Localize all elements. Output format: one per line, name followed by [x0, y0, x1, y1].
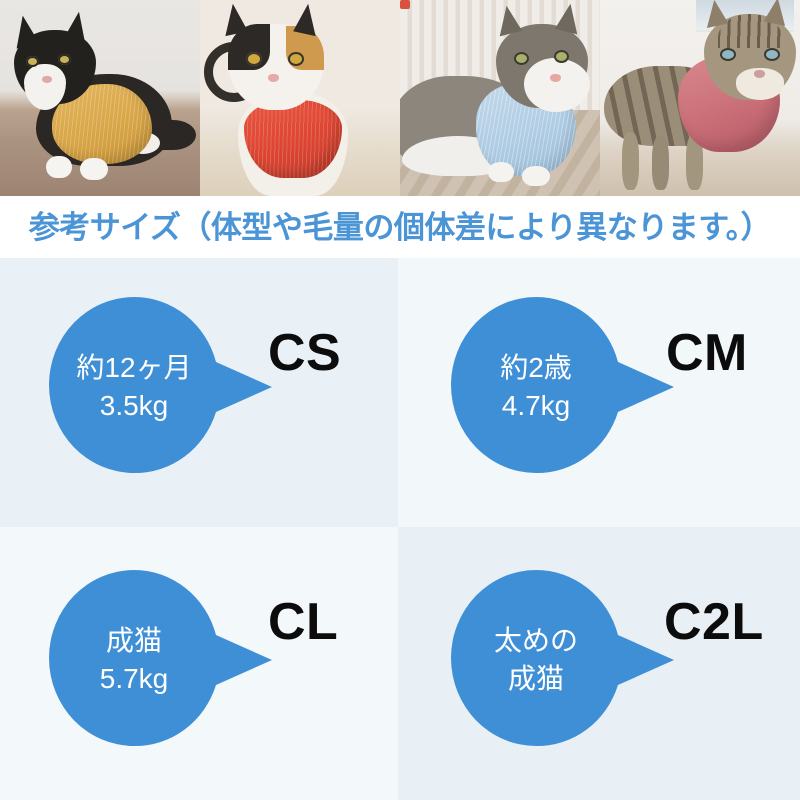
cat-eye-right	[764, 48, 780, 61]
cat-paw-left	[488, 162, 514, 182]
cat-photo-tabby-pink	[600, 0, 800, 196]
recovery-suit-red	[244, 100, 342, 178]
size-cell-c2l: 太めの 成猫 C2L	[398, 527, 800, 800]
size-reference-grid: 約12ヶ月 3.5kg CS 約2歳 4.7kg CM	[0, 258, 800, 800]
size-bubble-c2l: 太めの 成猫	[446, 565, 686, 755]
size-code-cl: CL	[268, 527, 338, 717]
cat-leg-rear	[622, 132, 639, 190]
size-code-cs: CS	[268, 258, 341, 448]
cat-ear-left	[702, 0, 729, 28]
size-bubble-cl: 成猫 5.7kg	[44, 565, 284, 755]
section-title-band: 参考サイズ（体型や毛量の個体差により異なります。）	[0, 196, 800, 258]
cat-paw-right	[80, 158, 108, 180]
size-code-cm: CM	[666, 258, 748, 448]
size-bubble-cm: 約2歳 4.7kg	[446, 292, 686, 482]
size-guide-page: 参考サイズ（体型や毛量の個体差により異なります。） 約12ヶ月 3.5kg CS	[0, 0, 800, 800]
cat-photo-strip	[0, 0, 800, 196]
size-cell-cs: 約12ヶ月 3.5kg CS	[0, 258, 398, 527]
cat-eye-right	[58, 54, 71, 65]
size-code-c2l: C2L	[664, 527, 764, 717]
cat-photo-grey-blue	[400, 0, 600, 196]
cat-eye-left	[26, 56, 39, 67]
size-cell-cl: 成猫 5.7kg CL	[0, 527, 398, 800]
size-cell-cm: 約2歳 4.7kg CM	[398, 258, 800, 527]
speech-bubble-shape	[446, 565, 686, 755]
speech-bubble-shape	[44, 565, 284, 755]
speech-bubble-shape	[44, 292, 284, 482]
speech-bubble-shape	[446, 292, 686, 482]
cat-leg-mid	[652, 136, 669, 190]
cat-eye-left	[246, 52, 262, 66]
cat-nose	[268, 74, 279, 82]
suit-tag	[400, 0, 410, 9]
cat-eye-right	[554, 50, 569, 63]
cat-nose	[754, 70, 765, 78]
cat-nose	[550, 74, 561, 82]
cat-illustration-grey	[400, 0, 410, 9]
cat-photo-tuxedo-yellow	[0, 0, 200, 196]
cat-nose	[42, 76, 52, 83]
cat-eye-right	[288, 52, 304, 66]
cat-eye-left	[720, 48, 736, 61]
cat-paw-left	[46, 156, 72, 178]
cat-paw-right	[522, 166, 550, 186]
cat-eye-left	[514, 52, 529, 65]
size-bubble-cs: 約12ヶ月 3.5kg	[44, 292, 284, 482]
cat-photo-calico-red	[200, 0, 400, 196]
page-title: 参考サイズ（体型や毛量の個体差により異なります。）	[29, 212, 771, 243]
